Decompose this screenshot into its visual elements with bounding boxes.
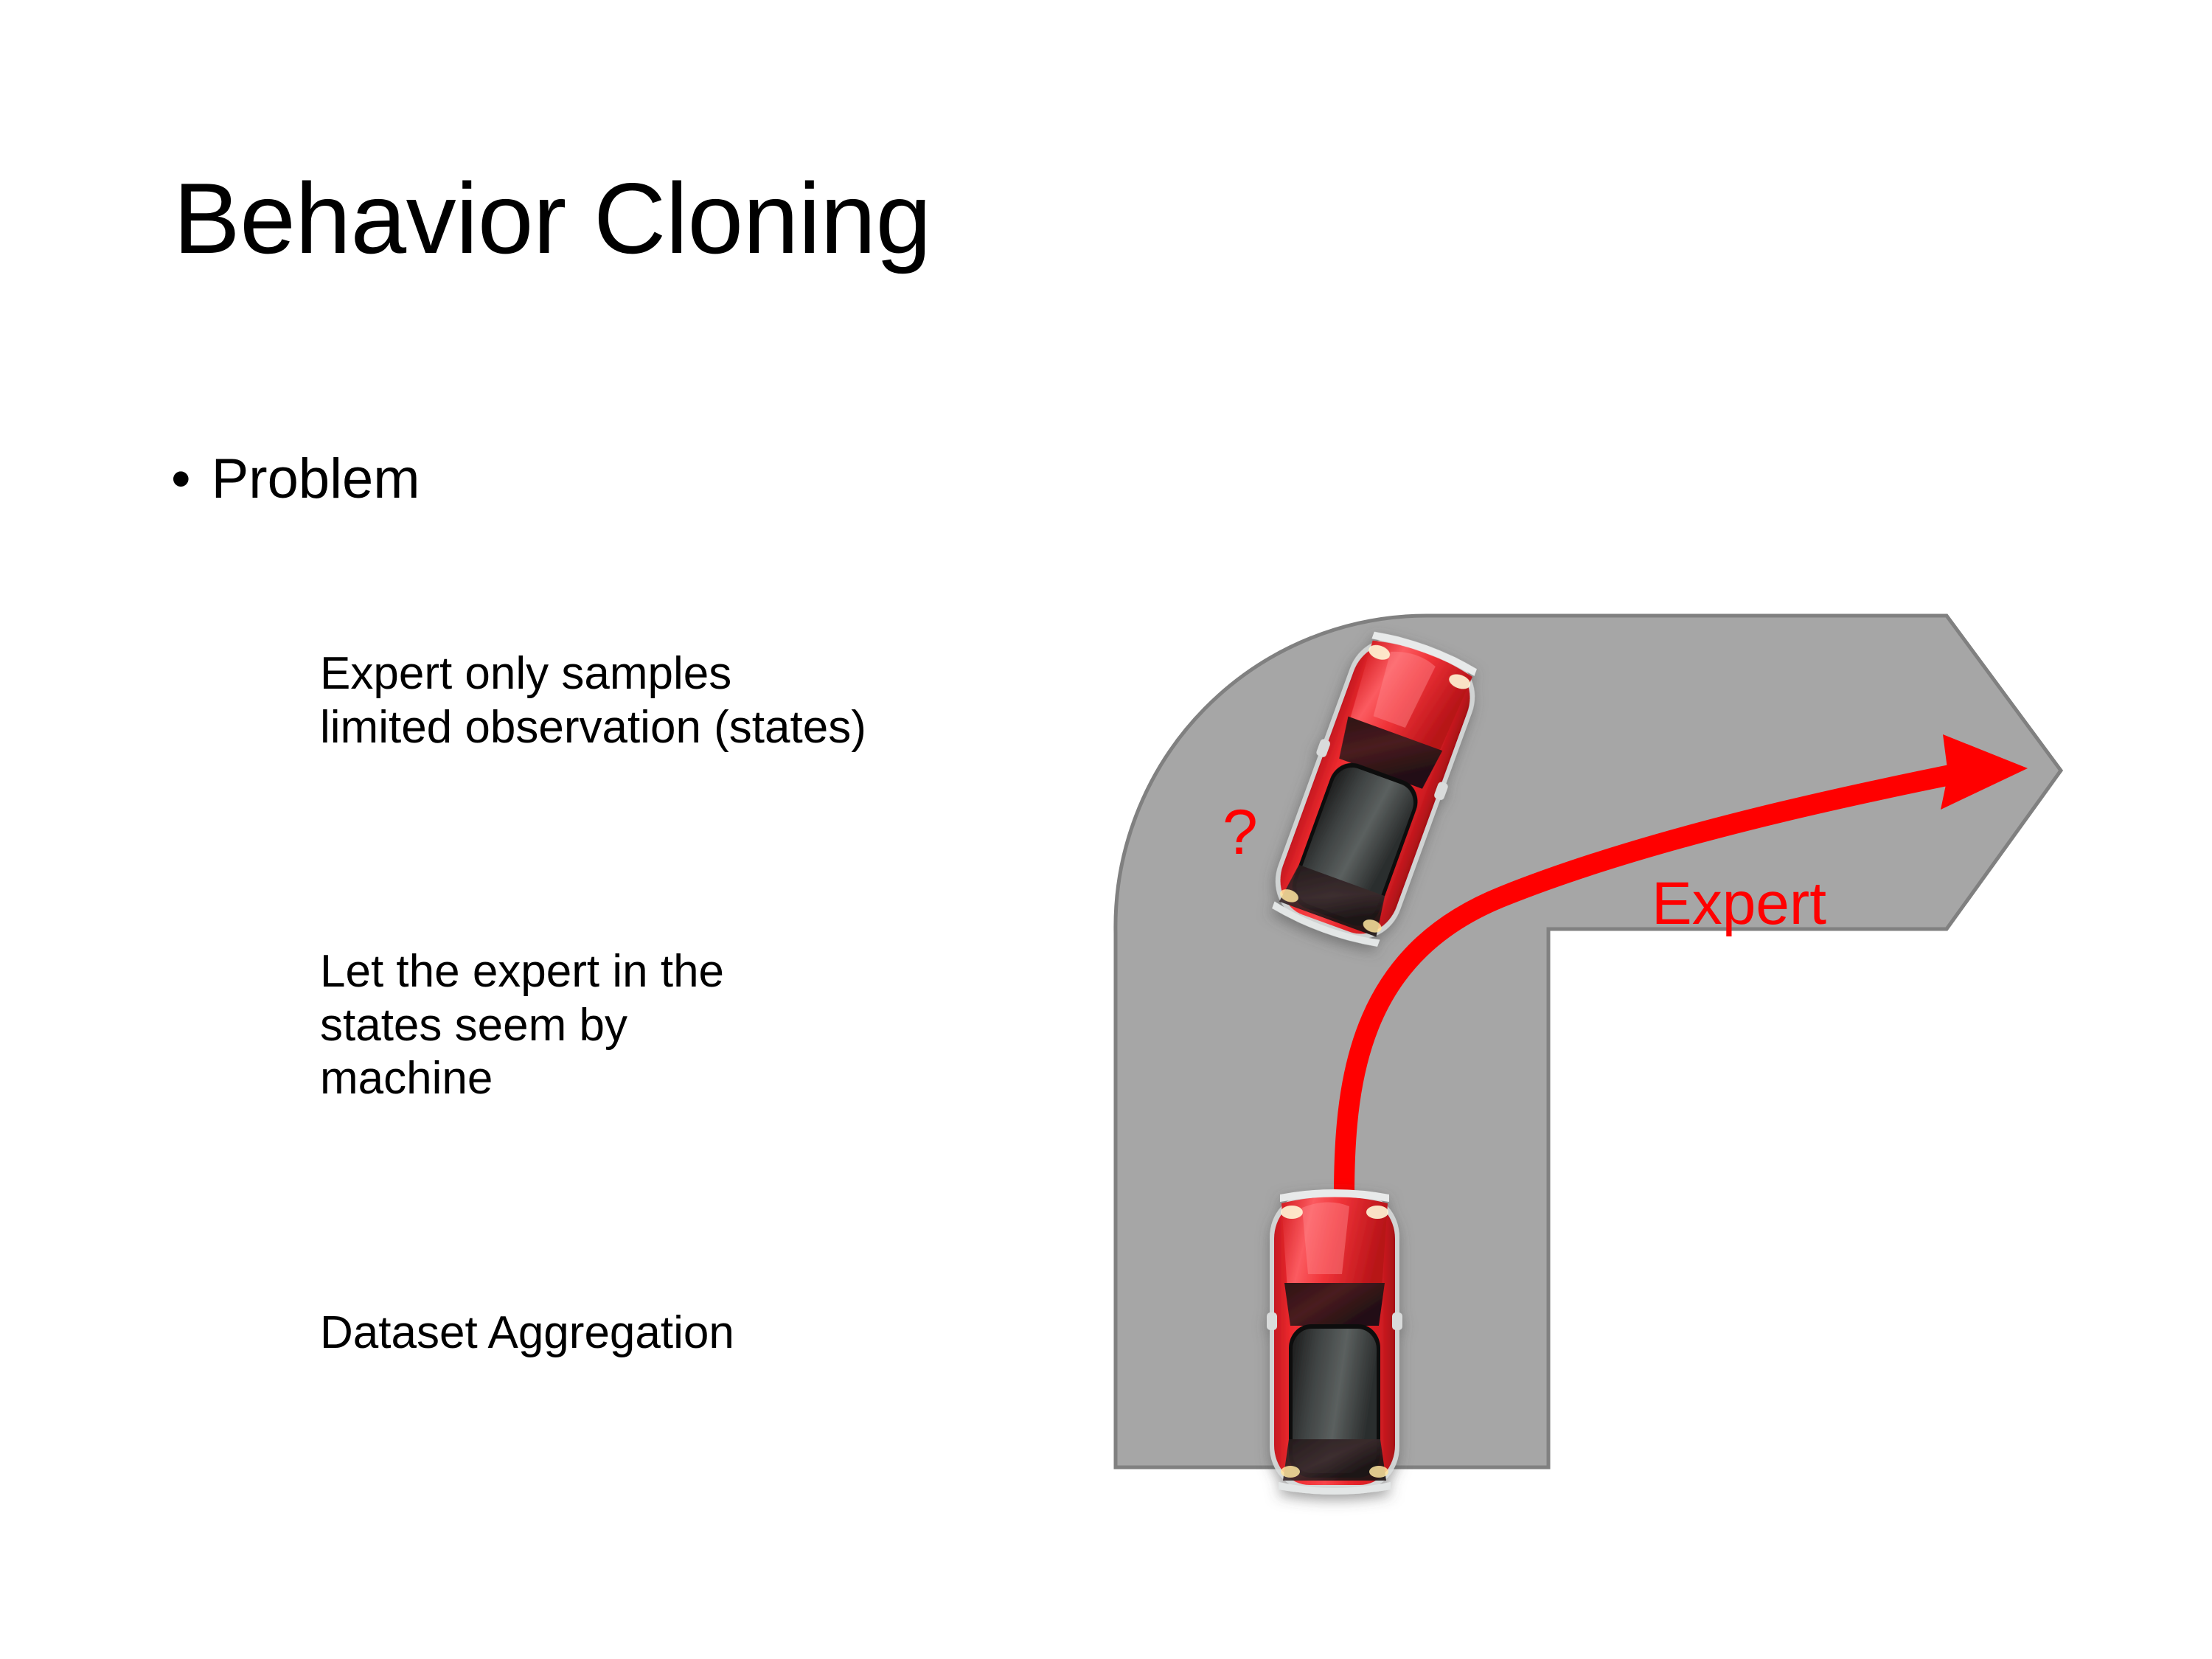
body-line: Let the expert in the — [320, 945, 1190, 999]
road-shape — [1116, 616, 2061, 1467]
expert-car — [1267, 1189, 1402, 1495]
body-paragraph-dataset-aggregation: Dataset Aggregation — [320, 1307, 1190, 1360]
diagram-svg — [1091, 597, 2094, 1497]
bullet-item-label: Problem — [212, 451, 420, 507]
bullet-dot-icon: • — [171, 451, 191, 507]
expert-trajectory-label: Expert — [1652, 874, 1826, 934]
body-paragraph-let-expert: Let the expert in the states seem by mac… — [320, 945, 1190, 1106]
body-line: machine — [320, 1052, 1190, 1106]
slide-canvas: Behavior Cloning • Problem Expert only s… — [0, 0, 2212, 1659]
question-mark-label: ? — [1222, 801, 1258, 864]
body-paragraph-expert-samples: Expert only samples limited observation … — [320, 647, 1190, 754]
bullet-item-problem: • Problem — [171, 451, 420, 507]
page-title: Behavior Cloning — [173, 168, 931, 268]
body-line: Expert only samples — [320, 647, 1190, 701]
body-line: Dataset Aggregation — [320, 1307, 1190, 1360]
body-line: limited observation (states) — [320, 701, 1190, 755]
driving-scenario-illustration — [1091, 597, 2094, 1497]
body-line: states seem by — [320, 999, 1190, 1053]
